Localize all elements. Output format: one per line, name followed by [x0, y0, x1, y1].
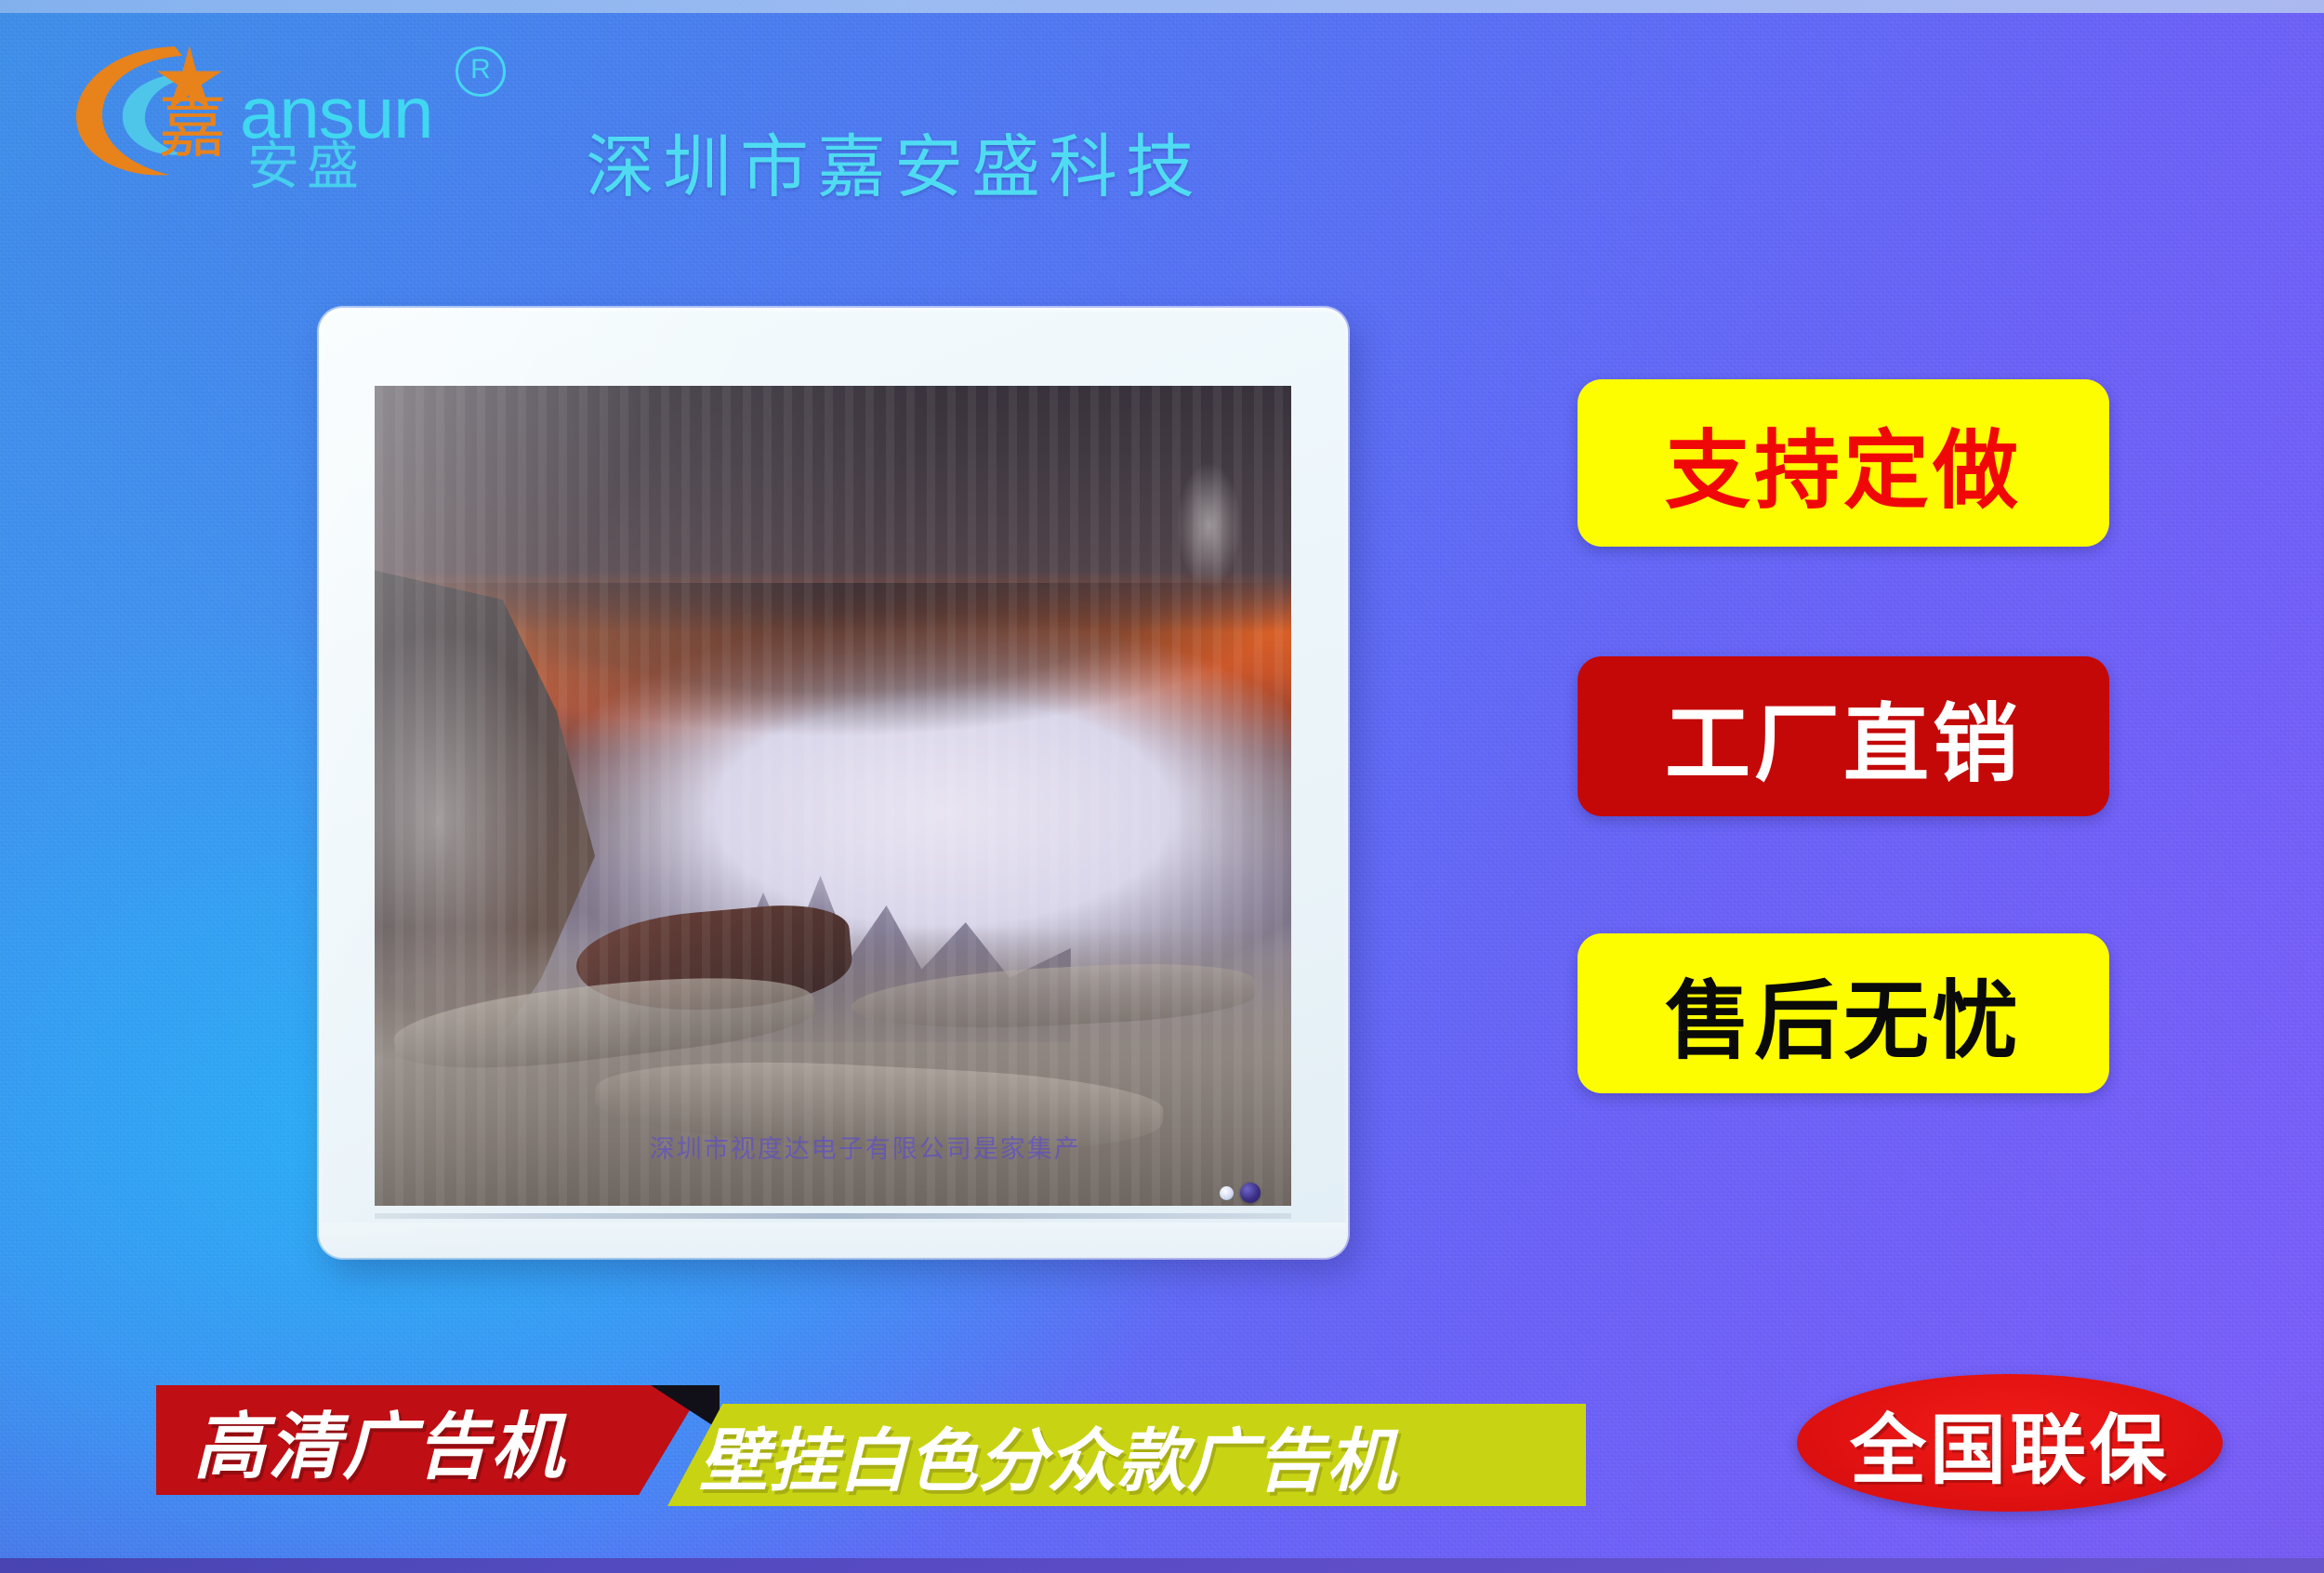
product-device: 深圳市视度达电子有限公司是家集产	[319, 308, 1348, 1258]
feature-badge-after-sales: 售后无忧	[1578, 933, 2109, 1093]
ir-sensor-icon	[1240, 1183, 1261, 1203]
logo-character: 嘉	[158, 87, 227, 167]
device-lower-panel	[319, 1223, 1348, 1258]
device-screen: 深圳市视度达电子有限公司是家集产	[375, 386, 1291, 1206]
bottom-banner-lime-label: 壁挂白色分众款广告机	[699, 1411, 1582, 1499]
feature-badge-factory-direct: 工厂直销	[1578, 656, 2109, 816]
bottom-banner-red-label: 高清广告机	[193, 1398, 658, 1484]
product-advertisement-image: 嘉 ansun R 安盛 深圳市嘉安盛科技 深圳市视度达电子有限公司是家集产	[0, 0, 2324, 1573]
warranty-badge: 全国联保	[1797, 1374, 2223, 1512]
registered-trademark-icon: R	[456, 46, 506, 97]
brand-header: 嘉 ansun R 安盛 深圳市嘉安盛科技	[65, 39, 1367, 178]
company-name: 深圳市嘉安盛科技	[586, 112, 1203, 211]
device-bezel-seam	[375, 1213, 1291, 1219]
background-top-strip	[0, 0, 2324, 13]
power-led-icon	[1220, 1186, 1234, 1200]
warranty-badge-label: 全国联保	[1850, 1388, 2170, 1499]
feature-badge-custom-made: 支持定做	[1578, 379, 2109, 547]
background-bottom-strip	[0, 1558, 2324, 1573]
brand-chinese-short: 安盛	[247, 125, 366, 200]
